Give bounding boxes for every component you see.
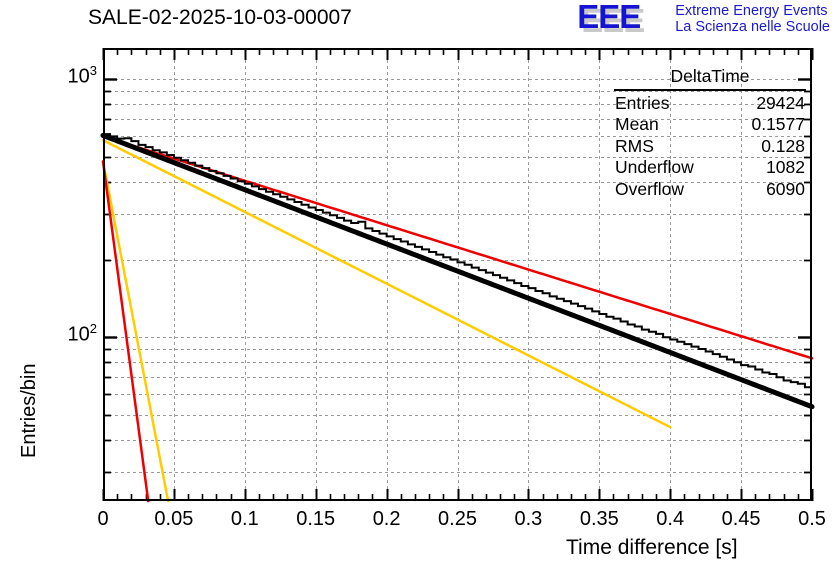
x-tick-label: 0.2 xyxy=(347,508,427,531)
stats-row-value: 0.1577 xyxy=(751,114,805,136)
x-tick-label: 0.45 xyxy=(701,508,781,531)
stats-row: Underflow1082 xyxy=(612,157,808,179)
stats-row-value: 0.128 xyxy=(761,136,805,158)
x-tick-label: 0.1 xyxy=(205,508,285,531)
stats-rows: Entries29424Mean0.1577RMS0.128Underflow1… xyxy=(612,93,808,201)
y-axis-title: Entries/bin xyxy=(18,258,41,458)
x-tick-label: 0.35 xyxy=(559,508,639,531)
y-tick-label: 103 xyxy=(11,63,97,89)
stats-row-label: Underflow xyxy=(615,157,694,179)
x-axis-title: Time difference [s] xyxy=(566,536,738,560)
x-tick-label: 0.05 xyxy=(134,508,214,531)
stats-row-label: Overflow xyxy=(615,179,684,201)
stats-row: Entries29424 xyxy=(612,93,808,115)
stats-title: DeltaTime xyxy=(614,66,806,91)
x-tick-label: 0.25 xyxy=(418,508,498,531)
root-canvas: SALE-02-2025-10-03-00007 EEE EEE Extreme… xyxy=(0,0,836,572)
stats-row-value: 1082 xyxy=(766,157,805,179)
stats-row: Overflow6090 xyxy=(612,179,808,201)
stats-row-value: 29424 xyxy=(756,93,805,115)
stats-row: RMS0.128 xyxy=(612,136,808,158)
x-tick-label: 0.15 xyxy=(276,508,356,531)
stats-row: Mean0.1577 xyxy=(612,114,808,136)
x-tick-label: 0.3 xyxy=(488,508,568,531)
stats-box: DeltaTime Entries29424Mean0.1577RMS0.128… xyxy=(612,66,808,200)
x-tick-label: 0.4 xyxy=(630,508,710,531)
x-tick-label: 0 xyxy=(63,508,143,531)
stats-row-label: Mean xyxy=(615,114,659,136)
stats-row-value: 6090 xyxy=(766,179,805,201)
x-tick-label: 0.5 xyxy=(772,508,836,531)
stats-row-label: Entries xyxy=(615,93,669,115)
stats-row-label: RMS xyxy=(615,136,654,158)
